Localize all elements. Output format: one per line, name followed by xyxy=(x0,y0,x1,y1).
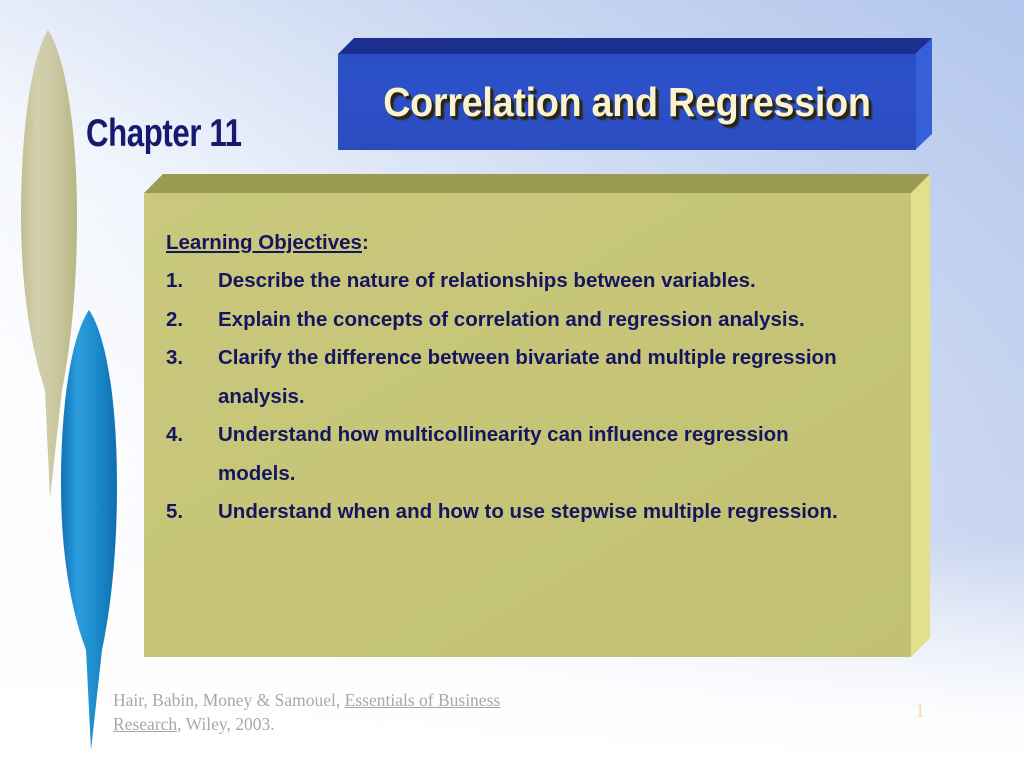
chapter-label: Chapter 11 xyxy=(86,112,242,156)
objective-number: 3. xyxy=(166,339,218,378)
title-box: Correlation and Regression xyxy=(338,38,932,150)
objective-number: 1. xyxy=(166,262,218,301)
learning-objectives-heading-text: Learning Objectives xyxy=(166,231,362,254)
page-number: 1 xyxy=(915,700,925,723)
objective-item: 1.Describe the nature of relationships b… xyxy=(166,262,895,301)
slide-canvas: Chapter 11 Correlation and Regression Le… xyxy=(0,0,1024,768)
objective-text: Understand how multicollinearity can inf… xyxy=(218,416,863,493)
slide-title: Correlation and Regression xyxy=(383,79,870,125)
title-box-face: Correlation and Regression xyxy=(338,54,916,150)
objective-text: Explain the concepts of correlation and … xyxy=(218,301,863,340)
objective-item: 5.Understand when and how to use stepwis… xyxy=(166,493,895,532)
objective-number: 4. xyxy=(166,416,218,455)
citation-publisher: , Wiley, 2003. xyxy=(177,714,274,734)
objective-item: 3.Clarify the difference between bivaria… xyxy=(166,339,895,416)
content-body: Learning Objectives: 1.Describe the natu… xyxy=(166,223,895,532)
objective-item: 4.Understand how multicollinearity can i… xyxy=(166,416,895,493)
citation-authors: Hair, Babin, Money & Samouel, xyxy=(113,690,345,710)
content-box-face: Learning Objectives: 1.Describe the natu… xyxy=(144,193,911,657)
objective-number: 5. xyxy=(166,493,218,532)
objective-number: 2. xyxy=(166,301,218,340)
decorative-leaf-blue-icon xyxy=(58,310,120,750)
content-box-top-bevel xyxy=(144,174,930,193)
objective-text: Describe the nature of relationships bet… xyxy=(218,262,863,301)
title-box-right-bevel xyxy=(915,38,932,150)
footer-citation: Hair, Babin, Money & Samouel, Essentials… xyxy=(113,688,513,736)
objective-item: 2.Explain the concepts of correlation an… xyxy=(166,301,895,340)
decorative-leaf-khaki-icon xyxy=(18,30,80,498)
learning-objectives-heading-colon: : xyxy=(362,231,369,254)
objectives-list: 1.Describe the nature of relationships b… xyxy=(166,262,895,532)
learning-objectives-heading: Learning Objectives: xyxy=(166,223,895,262)
objective-text: Understand when and how to use stepwise … xyxy=(218,493,863,532)
content-box-right-bevel xyxy=(911,174,930,657)
content-box: Learning Objectives: 1.Describe the natu… xyxy=(144,174,930,657)
objective-text: Clarify the difference between bivariate… xyxy=(218,339,863,416)
title-box-top-bevel xyxy=(338,38,932,54)
